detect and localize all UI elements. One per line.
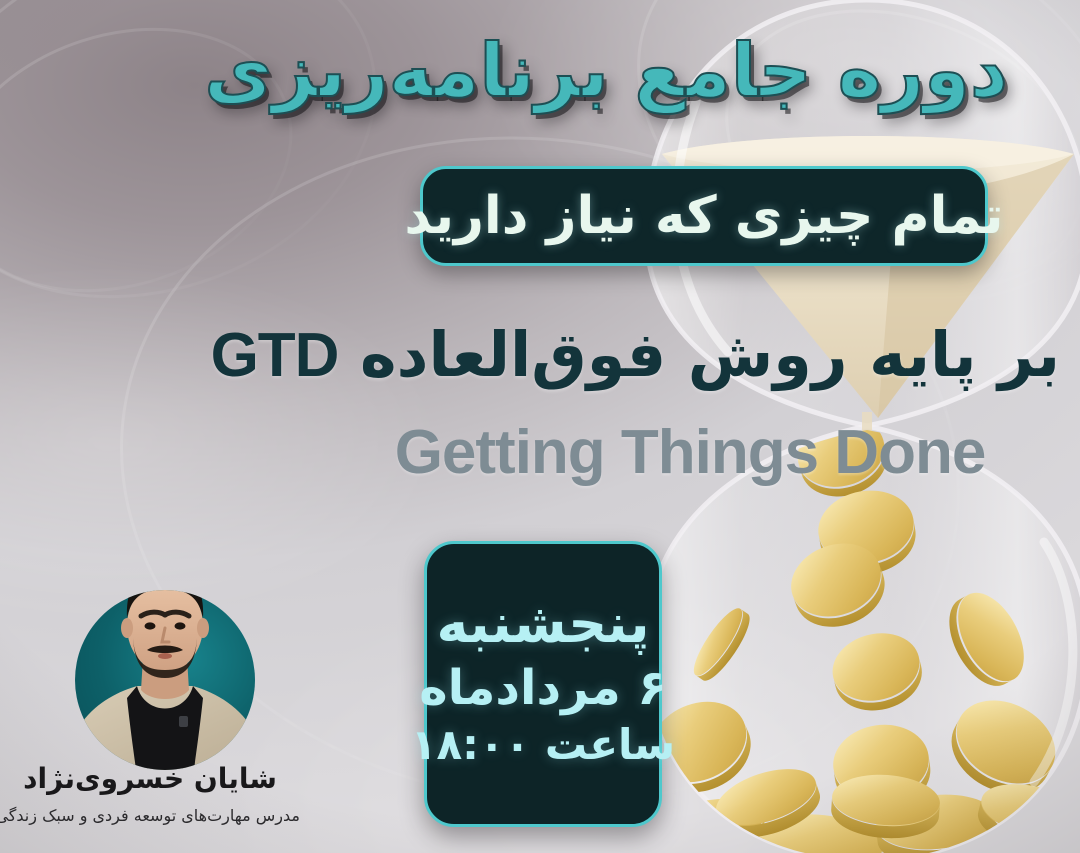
- event-time: ساعت ۱۸:۰۰: [411, 723, 675, 767]
- method-persian-text: بر پایه روش فوق‌العاده: [360, 318, 1060, 391]
- poster-canvas: دوره جامع برنامه‌ریزی تمام چیزی که نیاز …: [0, 0, 1080, 853]
- banner-text: تمام چیزی که نیاز دارید: [404, 190, 1003, 242]
- method-acronym: GTD: [211, 321, 339, 390]
- presenter-name: شایان خسروی‌نژاد: [0, 762, 300, 796]
- event-date: ۶ مردادماه: [419, 663, 666, 713]
- event-weekday: پنجشنبه: [436, 596, 649, 653]
- method-line: بر پایه روش فوق‌العاده GTD: [320, 324, 1060, 387]
- subtitle-banner: تمام چیزی که نیاز دارید: [420, 166, 988, 266]
- page-title: دوره جامع برنامه‌ریزی: [348, 26, 1008, 116]
- presenter-avatar-image: [75, 530, 255, 770]
- presenter-role: مدرس مهارت‌های توسعه فردی و سبک زندگی: [0, 806, 300, 827]
- event-date-card: پنجشنبه ۶ مردادماه ساعت ۱۸:۰۰: [424, 541, 662, 827]
- method-subtitle: Getting Things Done: [320, 422, 1060, 484]
- presenter-portrait: [75, 530, 255, 770]
